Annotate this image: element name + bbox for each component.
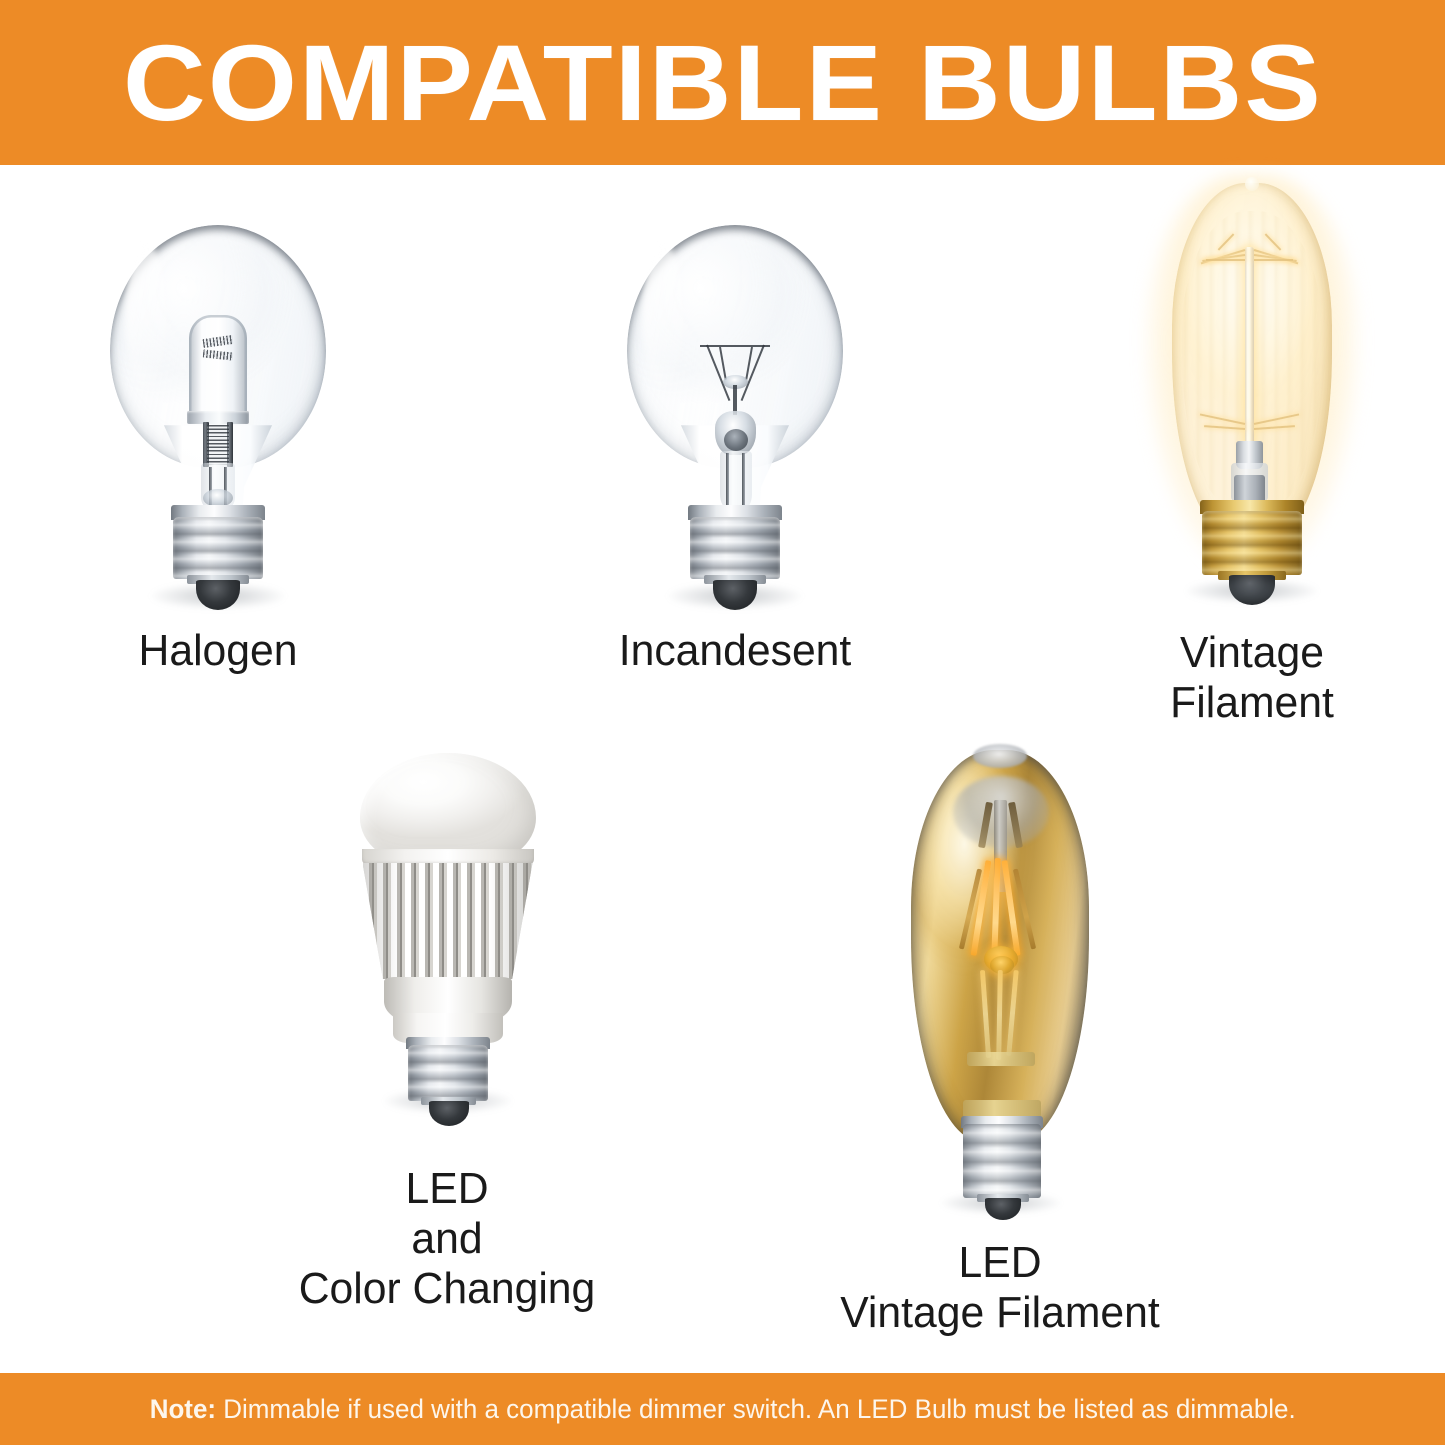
bulb-card-led-color-changing[interactable]: LED and Color Changing <box>267 751 627 1314</box>
led-vintage-filament-bulb-icon <box>905 740 1095 1220</box>
page-title: COMPATIBLE BULBS <box>123 29 1323 137</box>
led-bulb-icon <box>340 751 555 1116</box>
header-banner: COMPATIBLE BULBS <box>0 0 1445 165</box>
incandescent-bulb-icon <box>620 225 850 610</box>
vintage-filament-bulb-icon <box>1152 175 1352 610</box>
footer-note-body: Dimmable if used with a compatible dimme… <box>216 1394 1296 1424</box>
halogen-bulb-icon <box>103 225 333 610</box>
bulb-card-vintage-filament[interactable]: Vintage Filament <box>1072 175 1432 728</box>
bulb-card-incandescent[interactable]: Incandesent <box>555 225 915 676</box>
footer-note-text: Note: Dimmable if used with a compatible… <box>149 1396 1295 1423</box>
bulb-card-halogen[interactable]: Halogen <box>38 225 398 676</box>
bulb-label-vintage-filament: Vintage Filament <box>1077 628 1426 728</box>
footer-note-banner: Note: Dimmable if used with a compatible… <box>0 1373 1445 1445</box>
bulb-card-led-vintage-filament[interactable]: LED Vintage Filament <box>820 740 1180 1338</box>
bulb-label-incandescent: Incandesent <box>560 626 909 676</box>
bulb-label-halogen: Halogen <box>43 626 392 676</box>
bulb-label-led-vintage-filament: LED Vintage Filament <box>825 1238 1174 1338</box>
bulb-label-led-color-changing: LED and Color Changing <box>272 1164 621 1314</box>
bulb-grid: Halogen I <box>0 165 1445 1373</box>
footer-note-prefix: Note: <box>149 1394 215 1424</box>
